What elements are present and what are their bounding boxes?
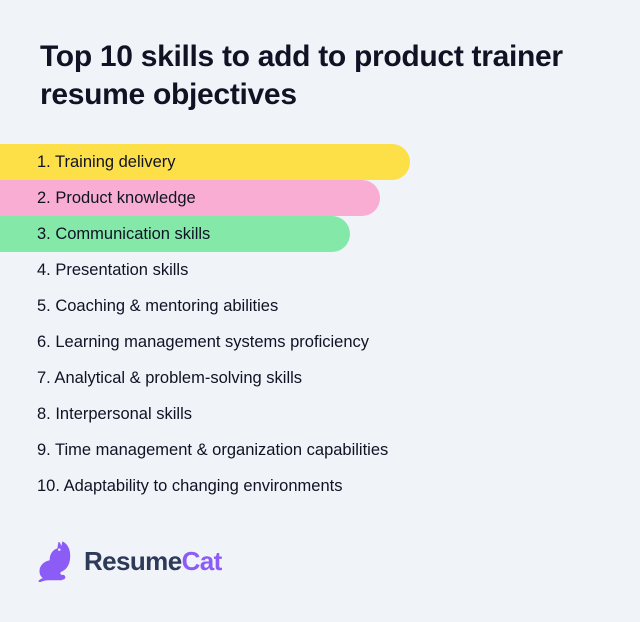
skill-list-item: 10. Adaptability to changing environment…	[0, 468, 640, 504]
skill-label: 7. Analytical & problem-solving skills	[0, 360, 302, 396]
skill-list-item: 8. Interpersonal skills	[0, 396, 640, 432]
skill-label: 6. Learning management systems proficien…	[0, 324, 369, 360]
skill-list-item: 5. Coaching & mentoring abilities	[0, 288, 640, 324]
cat-icon	[38, 540, 74, 582]
skills-list: 1. Training delivery2. Product knowledge…	[0, 144, 640, 504]
skill-list-item: 2. Product knowledge	[0, 180, 640, 216]
skill-list-item: 3. Communication skills	[0, 216, 640, 252]
logo-wordmark: ResumeCat	[84, 548, 222, 574]
skill-label: 1. Training delivery	[0, 144, 176, 180]
skill-label: 2. Product knowledge	[0, 180, 196, 216]
skill-list-item: 4. Presentation skills	[0, 252, 640, 288]
skill-label: 10. Adaptability to changing environment…	[0, 468, 342, 504]
page-title: Top 10 skills to add to product trainer …	[40, 38, 570, 114]
skill-label: 4. Presentation skills	[0, 252, 188, 288]
skill-label: 5. Coaching & mentoring abilities	[0, 288, 278, 324]
skill-list-item: 1. Training delivery	[0, 144, 640, 180]
skill-label: 3. Communication skills	[0, 216, 210, 252]
skill-list-item: 7. Analytical & problem-solving skills	[0, 360, 640, 396]
skill-list-item: 6. Learning management systems proficien…	[0, 324, 640, 360]
logo-word-cat: Cat	[182, 546, 222, 576]
skill-label: 9. Time management & organization capabi…	[0, 432, 388, 468]
resumecat-logo: ResumeCat	[38, 538, 222, 584]
logo-word-resume: Resume	[84, 546, 182, 576]
skill-list-item: 9. Time management & organization capabi…	[0, 432, 640, 468]
skill-label: 8. Interpersonal skills	[0, 396, 192, 432]
infographic-card: Top 10 skills to add to product trainer …	[0, 0, 640, 622]
